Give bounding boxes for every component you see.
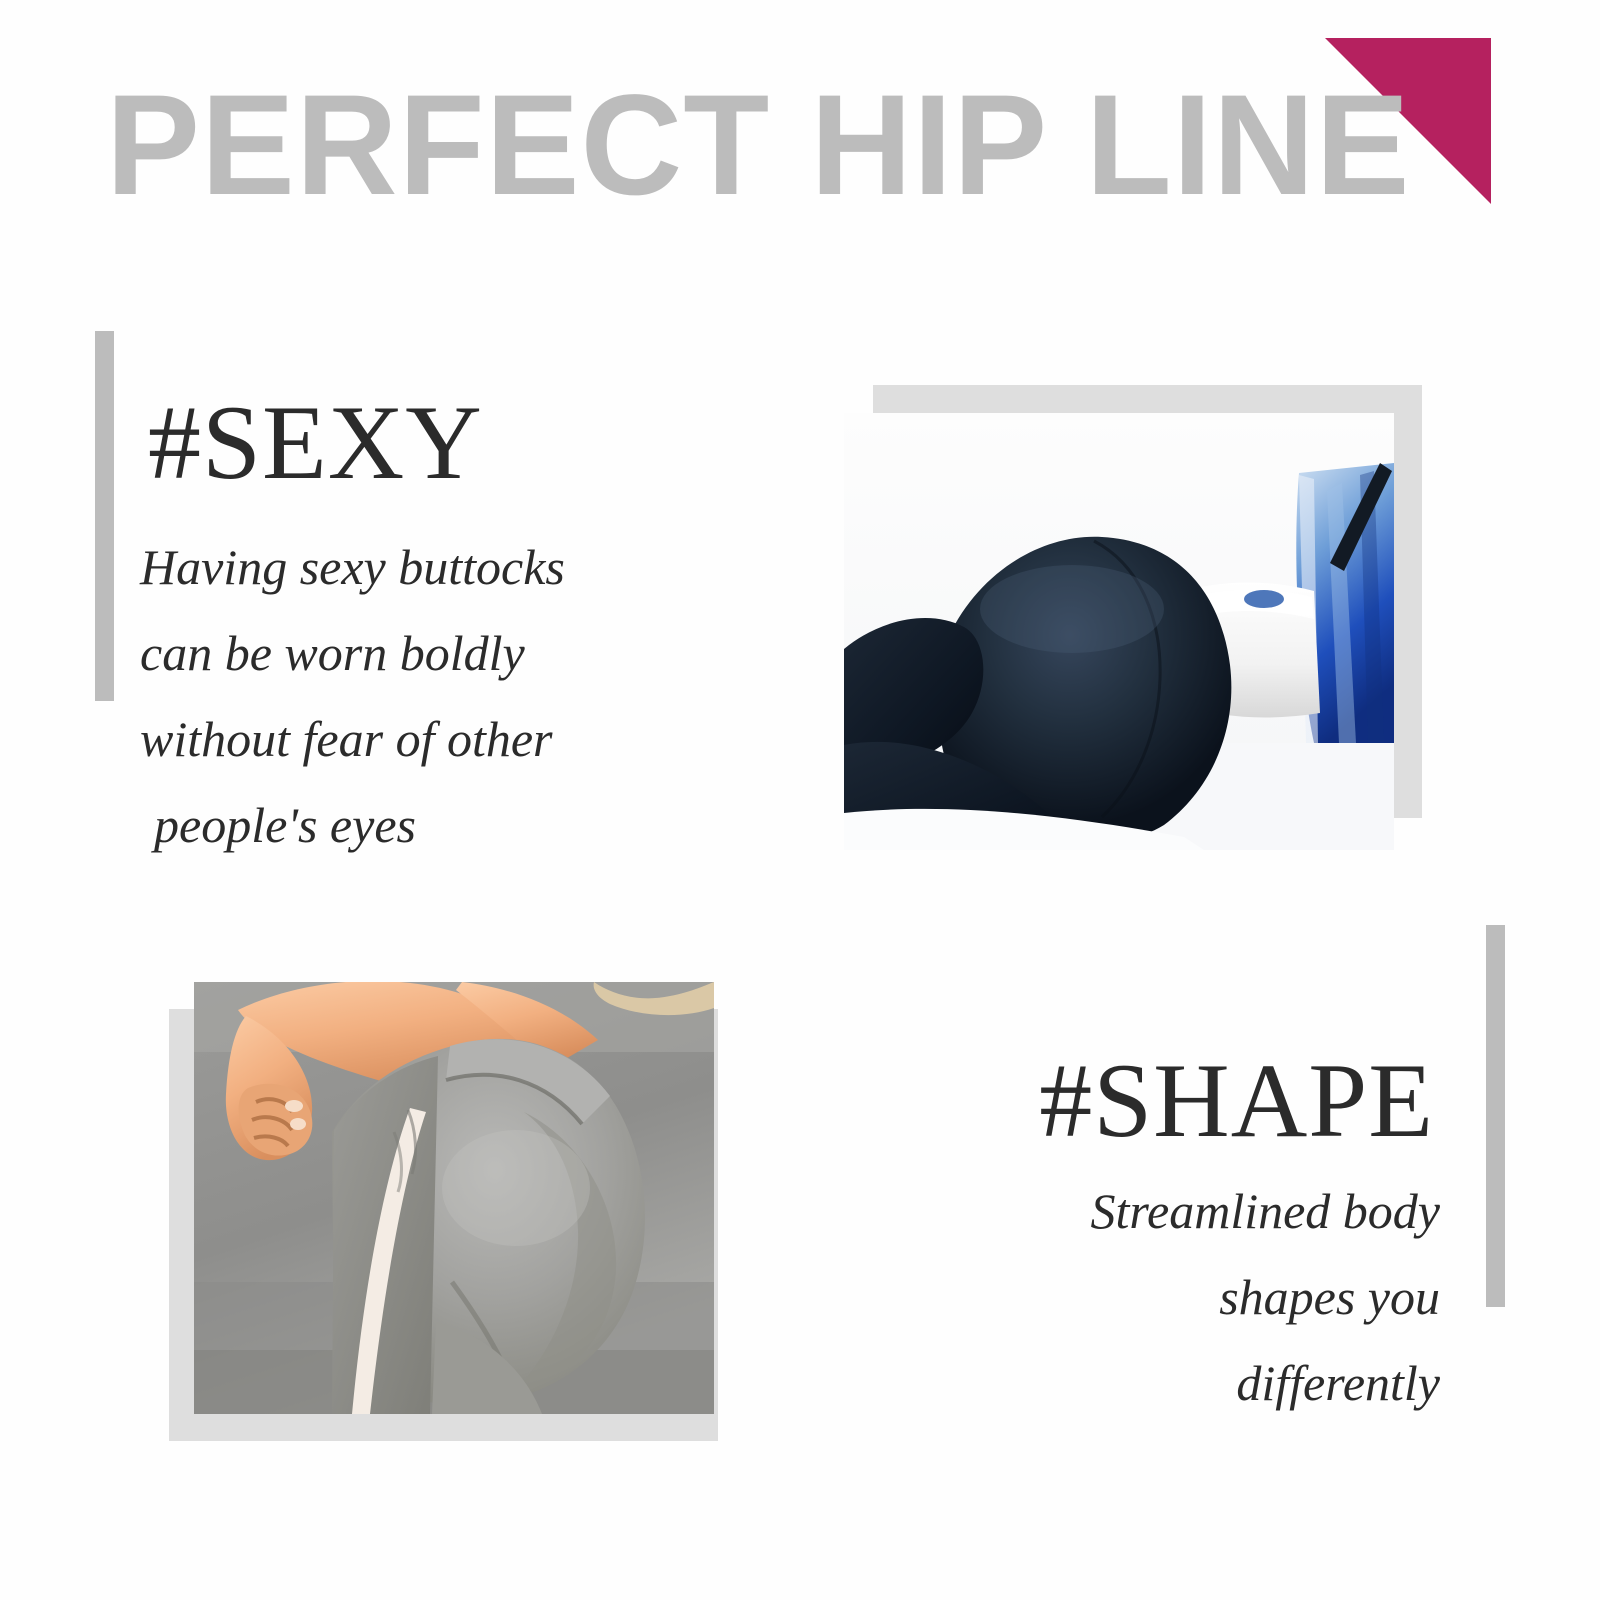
poster-canvas: PERFECT HIP LINE #SEXY Having sexy butto… xyxy=(0,0,1600,1600)
accent-rule-left xyxy=(95,331,114,701)
body-copy-shape: Streamlined body shapes you differently xyxy=(880,1168,1440,1426)
body-line: people's eyes xyxy=(140,782,680,868)
body-line: differently xyxy=(880,1340,1440,1426)
body-line: without fear of other xyxy=(140,696,680,782)
page-title: PERFECT HIP LINE xyxy=(106,74,1426,217)
text-block-sexy: #SEXY Having sexy buttocks can be worn b… xyxy=(140,390,680,868)
body-copy-sexy: Having sexy buttocks can be worn boldly … xyxy=(140,524,680,868)
body-line: Having sexy buttocks xyxy=(140,524,680,610)
body-line: can be worn boldly xyxy=(140,610,680,696)
photo-grey-leggings xyxy=(194,982,714,1414)
photo-navy-leggings xyxy=(844,413,1394,850)
photo-grey-leggings-art xyxy=(194,982,714,1414)
heading-sexy: #SEXY xyxy=(148,390,680,496)
photo-navy-leggings-art xyxy=(844,413,1394,850)
accent-rule-right xyxy=(1486,925,1505,1307)
body-line: Streamlined body xyxy=(880,1168,1440,1254)
body-line: shapes you xyxy=(880,1254,1440,1340)
heading-shape: #SHAPE xyxy=(880,1048,1434,1154)
text-block-shape: #SHAPE Streamlined body shapes you diffe… xyxy=(880,1048,1440,1426)
